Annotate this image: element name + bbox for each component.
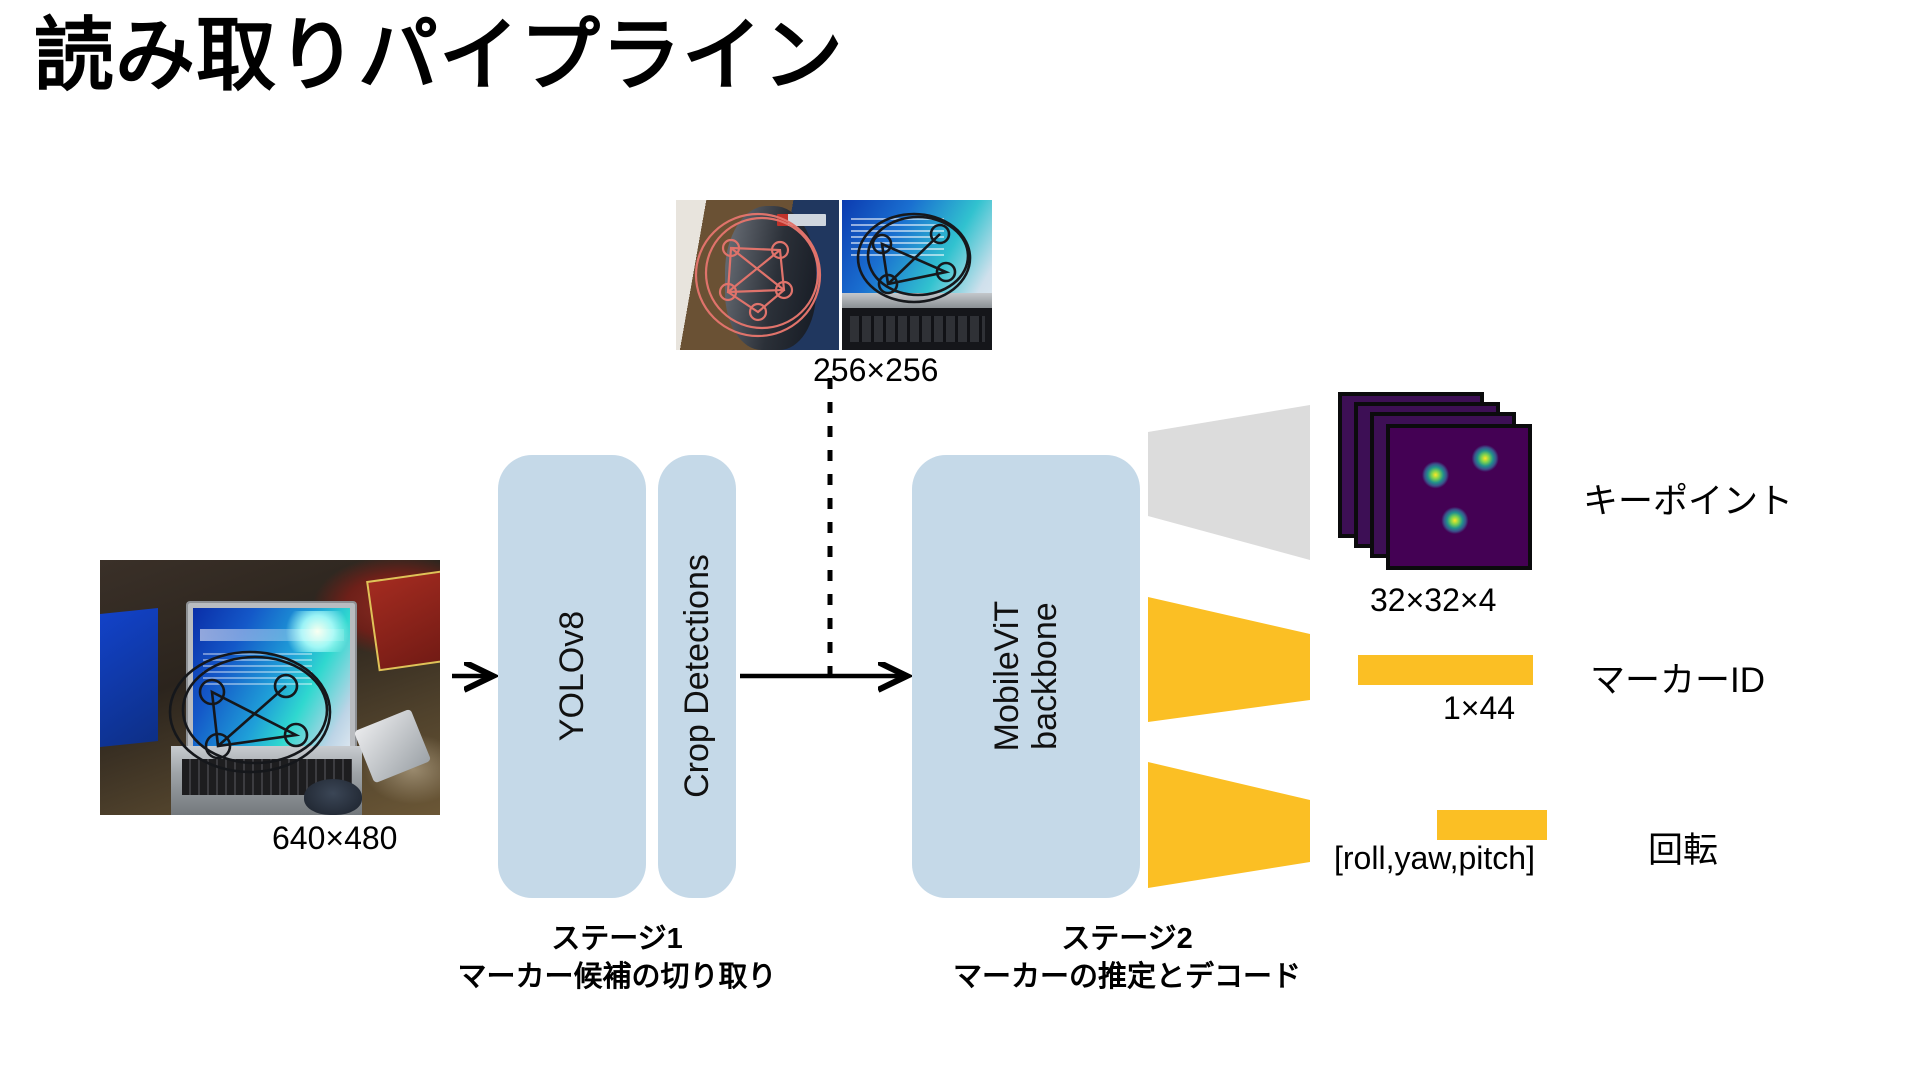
rotation-decoder-trapezoid — [1148, 762, 1310, 888]
keypoint-heatmap-stack — [1338, 392, 1538, 576]
stage1-caption: ステージ1 マーカー候補の切り取り — [457, 920, 776, 997]
mobilevit-label-line1: MobileViT — [988, 601, 1026, 752]
marker-id-output-label: マーカーID — [1590, 652, 1765, 703]
marker-id-size-label: 1×44 — [1443, 690, 1515, 727]
mobilevit-label-line2: backbone — [1026, 601, 1064, 752]
yolov8-label: YOLOv8 — [553, 611, 591, 741]
rotation-vector-bar — [1437, 810, 1547, 840]
stage2-caption-line1: ステージ2 — [953, 920, 1301, 958]
crop-detections-block[interactable]: Crop Detections — [658, 455, 736, 898]
yolov8-block[interactable]: YOLOv8 — [498, 455, 646, 898]
keypoint-decoder-trapezoid — [1148, 405, 1310, 560]
mobilevit-backbone-block[interactable]: MobileViT backbone — [912, 455, 1140, 898]
stage1-caption-line2: マーカー候補の切り取り — [457, 958, 776, 996]
keypoint-heatmap-front — [1386, 424, 1532, 570]
crop-detections-label: Crop Detections — [678, 555, 716, 799]
keypoint-output-label: キーポイント — [1583, 473, 1793, 524]
stage2-caption: ステージ2 マーカーの推定とデコード — [953, 920, 1301, 997]
rotation-size-label: [roll,yaw,pitch] — [1334, 840, 1535, 877]
mobilevit-backbone-label: MobileViT backbone — [988, 601, 1064, 752]
stage1-caption-line1: ステージ1 — [457, 920, 776, 958]
stage2-caption-line2: マーカーの推定とデコード — [953, 958, 1301, 996]
rotation-output-label: 回転 — [1648, 822, 1718, 873]
marker-id-vector-bar — [1358, 655, 1533, 685]
keypoint-size-label: 32×32×4 — [1370, 582, 1496, 619]
marker-id-decoder-trapezoid — [1148, 597, 1310, 722]
